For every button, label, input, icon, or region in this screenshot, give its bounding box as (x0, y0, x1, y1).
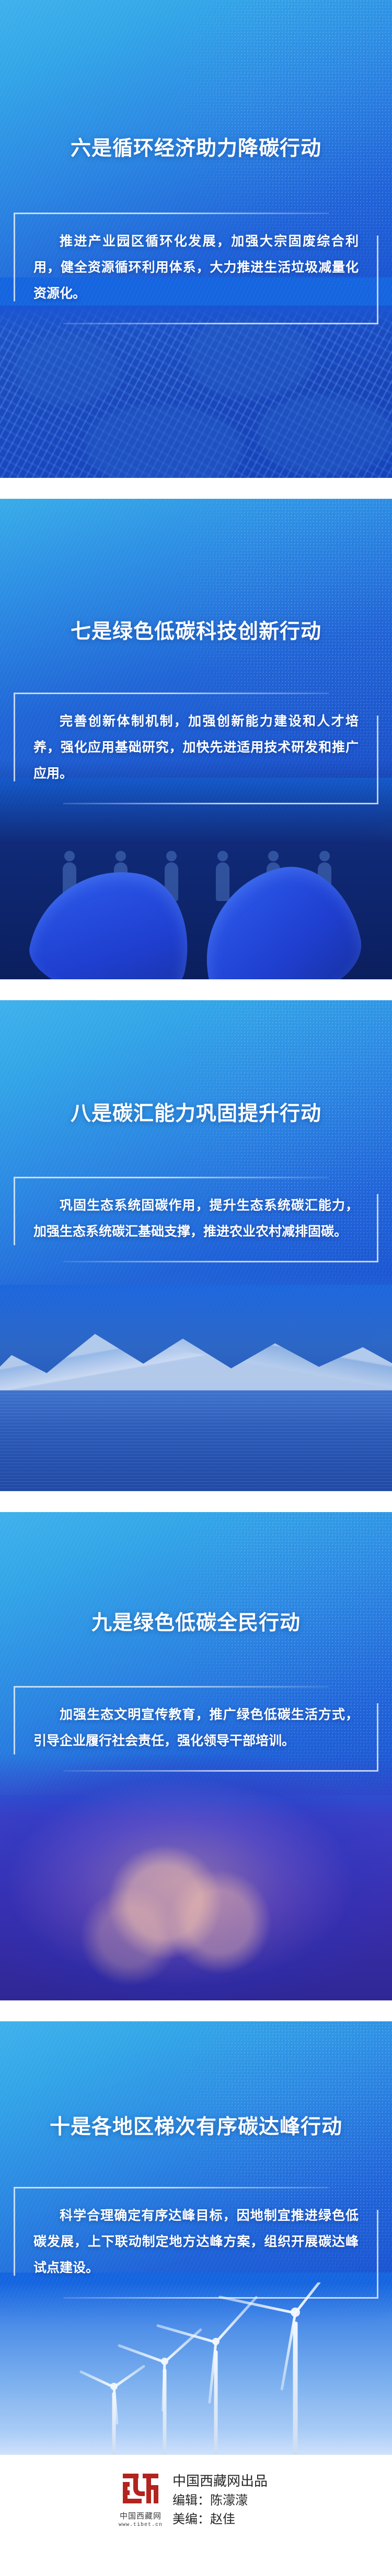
panel-body-card: 科学合理确定有序达峰目标，因地制宜推进绿色低碳发展，上下联动制定地方达峰方案，组… (14, 2187, 378, 2299)
panel-public-action: 九是绿色低碳全民行动 加强生态文明宣传教育，推广绿色低碳生活方式，引导企业履行社… (0, 1512, 392, 2000)
panel-body-card: 推进产业园区循环化发展，加强大宗固废综合利用，健全资源循环利用体系，大力推进生活… (14, 213, 378, 324)
panel-title: 八是碳汇能力巩固提升行动 (0, 1000, 392, 1127)
hands-shape (34, 823, 358, 979)
photo-aerial-industrial-park (0, 306, 392, 478)
panel-body-text: 推进产业园区循环化发展，加强大宗固废综合利用，健全资源循环利用体系，大力推进生活… (33, 228, 359, 307)
logo-name: 中国西藏网 (118, 2512, 163, 2522)
panel-body-text: 科学合理确定有序达峰目标，因地制宜推进绿色低碳发展，上下联动制定地方达峰方案，组… (33, 2203, 359, 2281)
seal-icon (118, 2472, 163, 2512)
wind-turbine (235, 2298, 355, 2455)
lake-reflection (0, 1390, 392, 1491)
panel-carbon-sink-capacity: 八是碳汇能力巩固提升行动 巩固生态系统固碳作用，提升生态系统碳汇能力，加强生态系… (0, 1000, 392, 1491)
panel-title: 十是各地区梯次有序碳达峰行动 (0, 2021, 392, 2140)
logo-url: www.tibet.cn (118, 2522, 163, 2528)
panel-circular-economy: 六是循环经济助力降碳行动 推进产业园区循环化发展，加强大宗固废综合利用，健全资源… (0, 0, 392, 478)
designer-credit: 美编：赵佳 (172, 2510, 268, 2529)
panel-body-card: 完善创新体制机制，加强创新能力建设和人才培养，强化应用基础研究，加快先进适用技术… (14, 693, 378, 804)
panel-body-text: 加强生态文明宣传教育，推广绿色低碳生活方式，引导企业履行社会责任，强化领导干部培… (33, 1702, 359, 1754)
photo-wind-turbines (0, 2282, 392, 2455)
panel-title: 九是绿色低碳全民行动 (0, 1512, 392, 1636)
mountain-range (0, 1312, 392, 1390)
panel-body-text: 巩固生态系统固碳作用，提升生态系统碳汇能力，加强生态系统碳汇基础支撑，推进农业农… (33, 1192, 359, 1245)
photo-hands-stacked-teamwork (0, 1755, 392, 2000)
panel-body-text: 完善创新体制机制，加强创新能力建设和人才培养，强化应用基础研究，加快先进适用技术… (33, 708, 359, 787)
panel-title: 七是绿色低碳科技创新行动 (0, 499, 392, 645)
panel-body-card: 巩固生态系统固碳作用，提升生态系统碳汇能力，加强生态系统碳汇基础支撑，推进农业农… (14, 1177, 378, 1262)
panel-green-tech-innovation: 七是绿色低碳科技创新行动 完善创新体制机制，加强创新能力建设和人才培养，强化应用… (0, 499, 392, 979)
editor-credit: 编辑：陈濛濛 (172, 2491, 268, 2510)
brand-logo: 中国西藏网 www.tibet.cn (118, 2472, 163, 2528)
poster: 六是循环经济助力降碳行动 推进产业园区循环化发展，加强大宗固废综合利用，健全资源… (0, 0, 392, 2545)
panel-title: 六是循环经济助力降碳行动 (0, 0, 392, 161)
footer: 中国西藏网 www.tibet.cn 中国西藏网出品 编辑：陈濛濛 美编：赵佳 (0, 2455, 392, 2545)
credits: 中国西藏网出品 编辑：陈濛濛 美编：赵佳 (172, 2471, 268, 2529)
produced-by: 中国西藏网出品 (172, 2471, 268, 2491)
photo-snow-mountain-lake (0, 1272, 392, 1491)
panel-body-card: 加强生态文明宣传教育，推广绿色低碳生活方式，引导企业履行社会责任，强化领导干部培… (14, 1686, 378, 1772)
panel-regional-peak-carbon: 十是各地区梯次有序碳达峰行动 科学合理确定有序达峰目标，因地制宜推进绿色低碳发展… (0, 2021, 392, 2455)
